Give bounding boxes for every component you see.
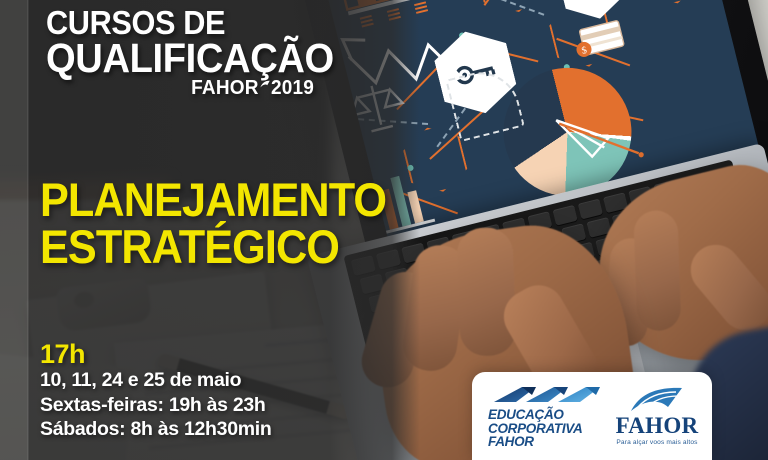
- three-arrows-icon: [492, 383, 610, 405]
- poster-canvas: $: [0, 0, 768, 460]
- schedule-block: 17h 10, 11, 24 e 25 de maio Sextas-feira…: [40, 340, 390, 442]
- page-title: PLANEJAMENTO ESTRATÉGICO: [40, 178, 420, 268]
- logo-educacao-line-1: EDUCAÇÃO: [488, 408, 610, 422]
- kicker-block: CURSOS DE QUALIFICAÇÃO FAHOR2019: [46, 8, 386, 97]
- logo-fahor-name: FAHOR: [610, 414, 704, 437]
- kicker-brand: FAHOR: [191, 77, 258, 99]
- fahor-swoosh-icon: [610, 387, 704, 413]
- logo-educacao-line-2: CORPORATIVA: [488, 422, 610, 436]
- kicker-line-1: CURSOS DE: [46, 8, 362, 38]
- overlay-left-strip: [0, 0, 28, 460]
- headline-line-1: PLANEJAMENTO: [40, 178, 390, 222]
- logo-fahor: FAHOR Para alçar voos mais altos: [610, 387, 710, 446]
- logo-fahor-tagline: Para alçar voos mais altos: [610, 439, 704, 446]
- kicker-line-2: QUALIFICAÇÃO: [46, 40, 362, 78]
- kicker-year: 2019: [271, 77, 314, 99]
- headline-line-2: ESTRATÉGICO: [40, 225, 390, 269]
- logo-educacao-corporativa: EDUCAÇÃO CORPORATIVA FAHOR: [472, 383, 610, 449]
- fahor-swoosh-icon: [260, 80, 270, 89]
- schedule-saturdays: Sábados: 8h às 12h30min: [40, 417, 390, 442]
- logo-card: EDUCAÇÃO CORPORATIVA FAHOR FAHOR Para al…: [472, 372, 712, 460]
- logo-educacao-line-3: FAHOR: [488, 435, 610, 449]
- kicker-brand-year: FAHOR2019: [59, 79, 314, 97]
- schedule-fridays: Sextas-feiras: 19h às 23h: [40, 393, 390, 418]
- schedule-dates: 10, 11, 24 e 25 de maio: [40, 368, 390, 393]
- overlay-edge-line: [27, 0, 29, 460]
- schedule-hours: 17h: [40, 340, 390, 368]
